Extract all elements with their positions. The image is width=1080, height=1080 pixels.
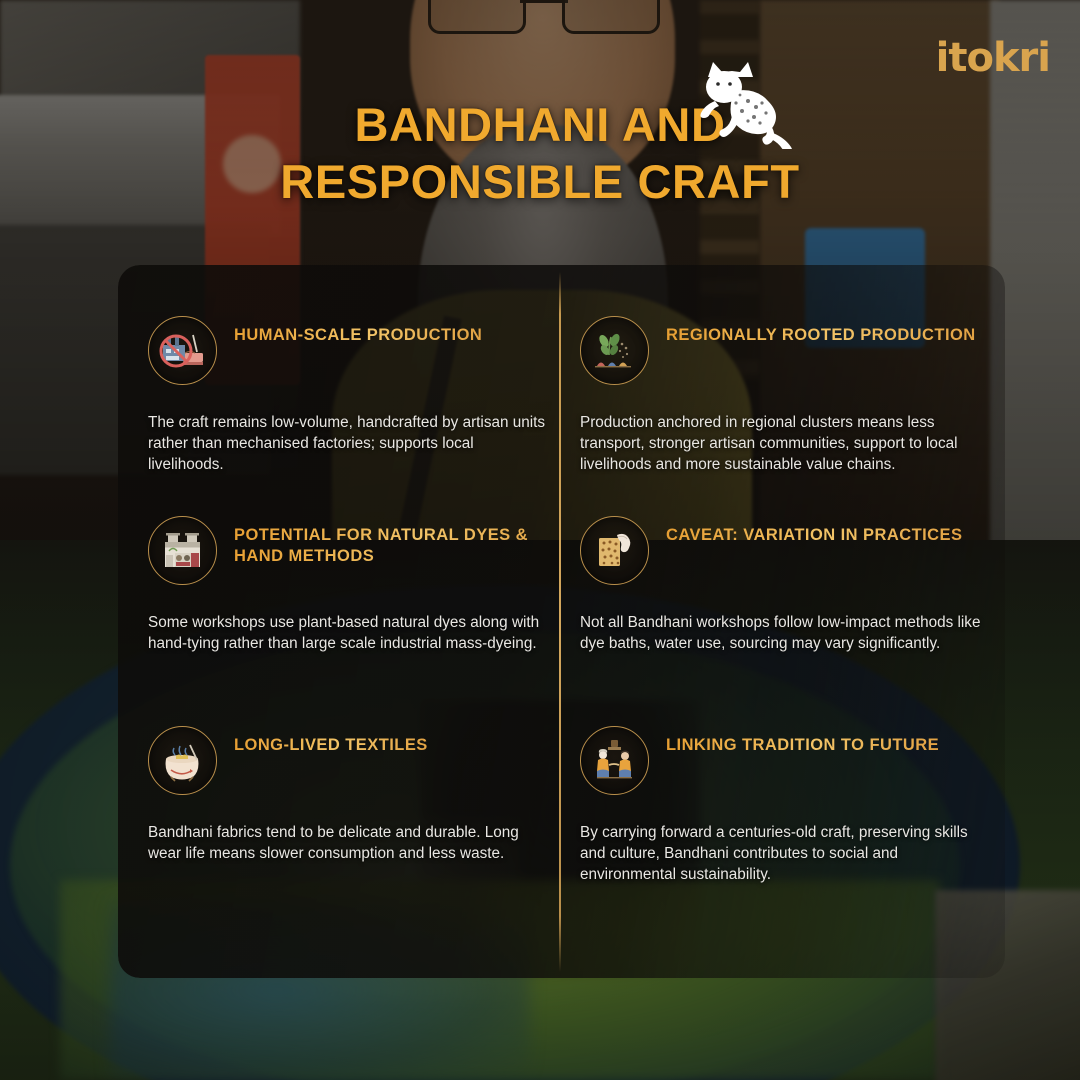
workshop-building-icon bbox=[148, 516, 217, 585]
dye-pot-icon bbox=[148, 726, 217, 795]
card-body: By carrying forward a centuries-old craf… bbox=[580, 823, 984, 885]
no-factory-icon bbox=[148, 316, 217, 385]
card-linking-tradition-to-future: LINKING TRADITION TO FUTURE By carrying … bbox=[580, 726, 1000, 885]
card-long-lived-textiles: LONG-LIVED TEXTILES Bandhani fabrics ten… bbox=[148, 726, 568, 865]
seedling-dye-icon bbox=[580, 316, 649, 385]
card-heading: LONG-LIVED TEXTILES bbox=[234, 726, 428, 756]
card-heading: HUMAN-SCALE PRODUCTION bbox=[234, 316, 482, 346]
card-body: The craft remains low-volume, handcrafte… bbox=[148, 413, 546, 475]
hand-holding-fabric-icon bbox=[580, 516, 649, 585]
card-human-scale-production: HUMAN-SCALE PRODUCTION The craft remains… bbox=[148, 316, 568, 475]
card-potential-for-natural-dyes: POTENTIAL FOR NATURAL DYES & HAND METHOD… bbox=[148, 516, 568, 655]
card-body: Some workshops use plant-based natural d… bbox=[148, 613, 546, 655]
card-heading: CAVEAT: VARIATION IN PRACTICES bbox=[666, 516, 962, 546]
card-heading: POTENTIAL FOR NATURAL DYES & HAND METHOD… bbox=[234, 516, 568, 567]
two-artisans-icon bbox=[580, 726, 649, 795]
card-caveat-variation-in-practices: CAVEAT: VARIATION IN PRACTICES Not all B… bbox=[580, 516, 1000, 655]
card-body: Bandhani fabrics tend to be delicate and… bbox=[148, 823, 546, 865]
card-heading: LINKING TRADITION TO FUTURE bbox=[666, 726, 939, 756]
card-heading: REGIONALLY ROOTED PRODUCTION bbox=[666, 316, 976, 346]
infographic-canvas: BANDHANI AND RESPONSIBLE CRAFT bbox=[0, 0, 1080, 1080]
card-regionally-rooted-production: REGIONALLY ROOTED PRODUCTION Production … bbox=[580, 316, 1000, 475]
card-body: Production anchored in regional clusters… bbox=[580, 413, 984, 475]
card-body: Not all Bandhani workshops follow low-im… bbox=[580, 613, 984, 655]
card-grid: HUMAN-SCALE PRODUCTION The craft remains… bbox=[0, 0, 1080, 1080]
